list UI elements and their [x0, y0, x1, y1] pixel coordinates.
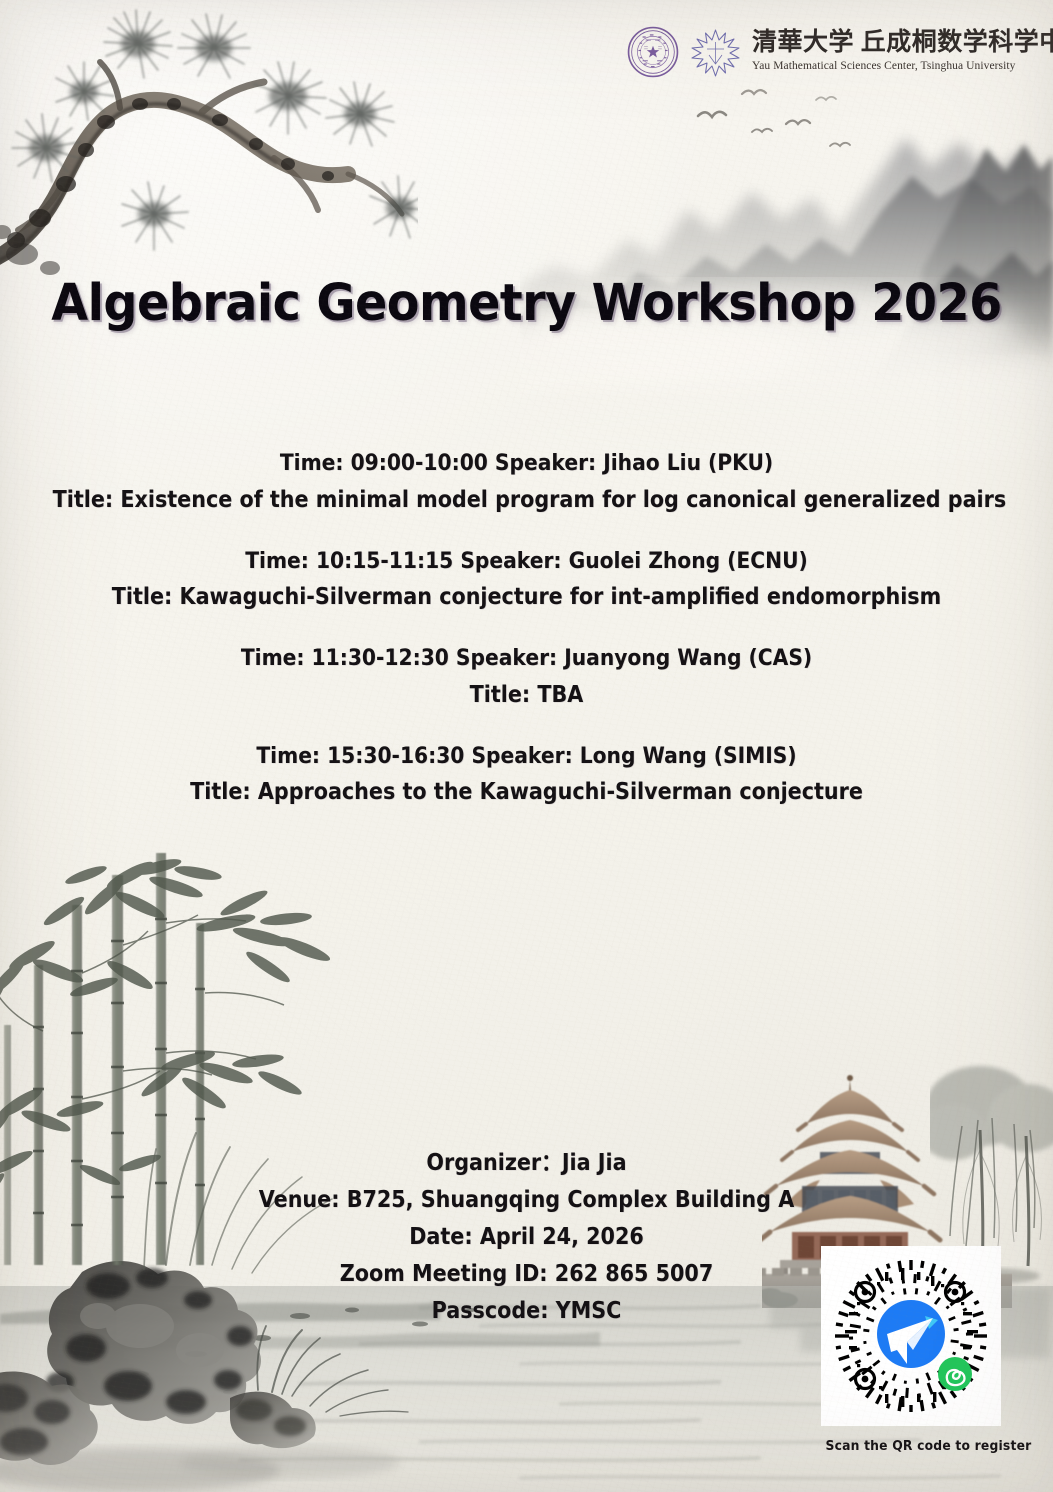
poster-canvas: 清華大学 丘成桐数学科学中心 Yau Mathematical Sciences…	[0, 0, 1053, 1492]
qr-code-caption: Scan the QR code to register	[826, 1439, 997, 1454]
qr-code-card[interactable]	[821, 1246, 1001, 1426]
ymsc-logo-bar: 清華大学 丘成桐数学科学中心 Yau Mathematical Sciences…	[627, 26, 1027, 88]
ink-wash-pine-branch-top-left	[0, 0, 418, 292]
venue-line: Venue: B725, Shuangqing Complex Building…	[53, 1189, 1001, 1212]
logo-english-name: Yau Mathematical Sciences Center, Tsingh…	[752, 60, 1053, 72]
talk-time-speaker: Time: 10:15-11:15 Speaker: Guolei Zhong …	[53, 550, 1001, 573]
talk-title: Title: Approaches to the Kawaguchi-Silve…	[53, 781, 1001, 804]
ymsc-snowflake-icon	[688, 26, 743, 78]
ink-wash-misty-mountains-top-right	[520, 80, 1053, 460]
wechat-miniprogram-qr-code[interactable]	[821, 1246, 1001, 1426]
logo-chinese-name: 清華大学 丘成桐数学科学中心	[752, 29, 1053, 57]
talk-time-speaker: Time: 09:00-10:00 Speaker: Jihao Liu (PK…	[53, 452, 1001, 475]
page-title: Algebraic Geometry Workshop 2026	[34, 274, 1019, 333]
talk-entry: Time: 10:15-11:15 Speaker: Guolei Zhong …	[0, 550, 1053, 610]
tsinghua-seal-icon	[627, 26, 679, 78]
flying-birds-silhouettes	[690, 88, 910, 188]
talk-time-speaker: Time: 15:30-16:30 Speaker: Long Wang (SI…	[53, 745, 1001, 768]
talk-entry: Time: 09:00-10:00 Speaker: Jihao Liu (PK…	[0, 452, 1053, 512]
talk-entry: Time: 15:30-16:30 Speaker: Long Wang (SI…	[0, 745, 1053, 805]
logo-text-block: 清華大学 丘成桐数学科学中心 Yau Mathematical Sciences…	[752, 26, 1053, 72]
talk-title: Title: Kawaguchi-Silverman conjecture fo…	[53, 586, 1001, 609]
qr-code-block: Scan the QR code to register	[821, 1246, 1001, 1454]
talk-entry: Time: 11:30-12:30 Speaker: Juanyong Wang…	[0, 647, 1053, 707]
talk-time-speaker: Time: 11:30-12:30 Speaker: Juanyong Wang…	[53, 647, 1001, 670]
talk-title: Title: Existence of the minimal model pr…	[53, 489, 1001, 512]
talk-title: Title: TBA	[53, 684, 1001, 707]
schedule-list: Time: 09:00-10:00 Speaker: Jihao Liu (PK…	[0, 452, 1053, 804]
organizer-line: Organizer：Jia Jia	[53, 1152, 1001, 1175]
